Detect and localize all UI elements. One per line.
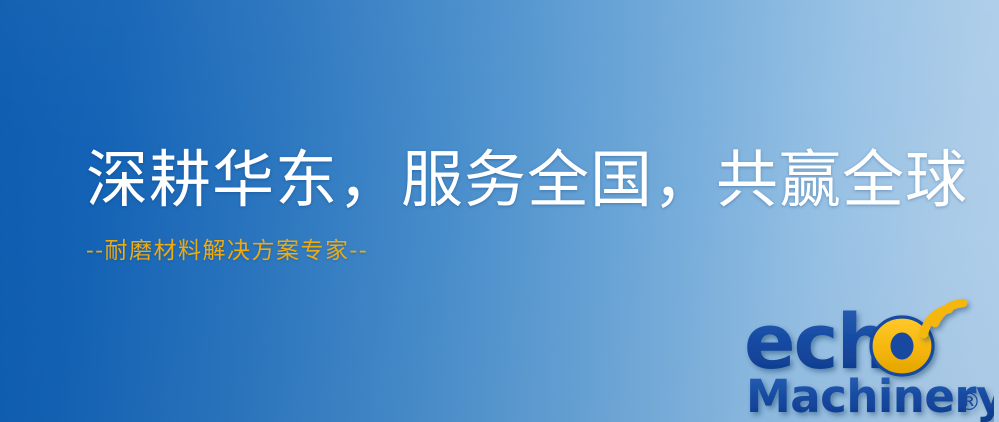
promo-banner: 深耕华东，服务全国，共赢全球 --耐磨材料解决方案专家--	[0, 0, 999, 422]
banner-copy-block: 深耕华东，服务全国，共赢全球 --耐磨材料解决方案专家--	[86, 148, 968, 266]
banner-headline: 深耕华东，服务全国，共赢全球	[86, 148, 968, 212]
logo-subwordmark-machinery: Machinery ®	[746, 370, 994, 422]
trademark-symbol: ®	[957, 388, 981, 416]
echo-machinery-logo: ech Machinery ®	[744, 296, 994, 422]
echo-wave-arcs-icon	[924, 303, 963, 334]
banner-subtitle: --耐磨材料解决方案专家--	[86, 212, 968, 266]
